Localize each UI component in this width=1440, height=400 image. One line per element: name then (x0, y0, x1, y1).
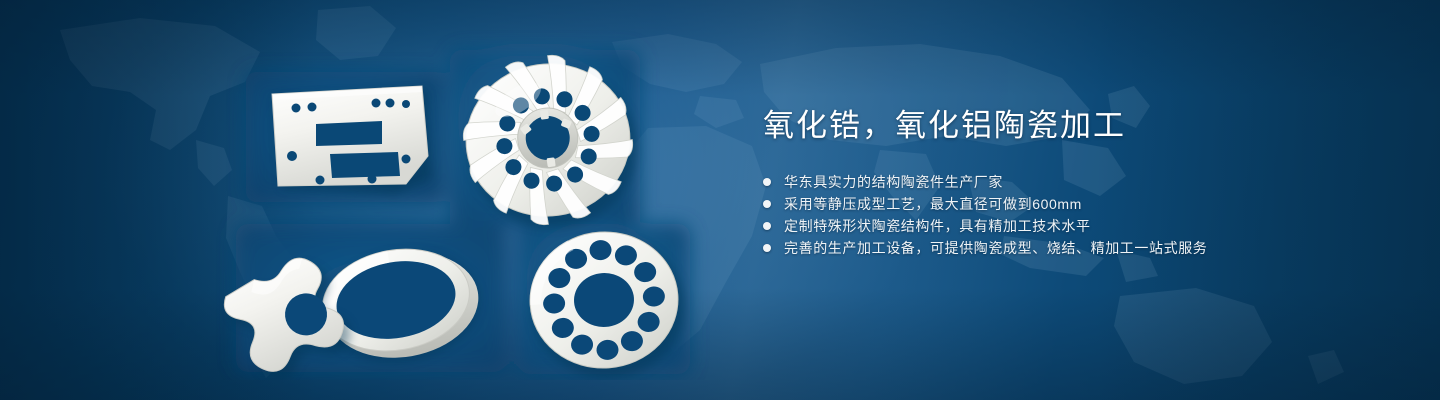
dot-bullet-icon (763, 200, 771, 208)
list-item: 采用等静压成型工艺，最大直径可做到600mm (763, 193, 1383, 215)
feature-text: 完善的生产加工设备，可提供陶瓷成型、烧结、精加工一站式服务 (784, 237, 1207, 259)
feature-text: 采用等静压成型工艺，最大直径可做到600mm (784, 193, 1082, 215)
feature-text: 华东具实力的结构陶瓷件生产厂家 (784, 171, 1003, 193)
banner-copy-block: 氧化锆，氧化铝陶瓷加工 华东具实力的结构陶瓷件生产厂家 采用等静压成型工艺，最大… (763, 108, 1383, 259)
dot-bullet-icon (763, 244, 771, 252)
dot-bullet-icon (763, 178, 771, 186)
list-item: 完善的生产加工设备，可提供陶瓷成型、烧结、精加工一站式服务 (763, 237, 1383, 259)
list-item: 华东具实力的结构陶瓷件生产厂家 (763, 171, 1383, 193)
feature-text: 定制特殊形状陶瓷结构件，具有精加工技术水平 (784, 215, 1091, 237)
page-title: 氧化锆，氧化铝陶瓷加工 (763, 108, 1383, 145)
ceramic-processing-banner: 氧化锆，氧化铝陶瓷加工 华东具实力的结构陶瓷件生产厂家 采用等静压成型工艺，最大… (0, 0, 1440, 400)
ceramic-products-photo-group (200, 28, 720, 380)
feature-list: 华东具实力的结构陶瓷件生产厂家 采用等静压成型工艺，最大直径可做到600mm 定… (763, 171, 1383, 259)
list-item: 定制特殊形状陶瓷结构件，具有精加工技术水平 (763, 215, 1383, 237)
ceramic-plate-photo (272, 86, 432, 194)
dot-bullet-icon (763, 222, 771, 230)
